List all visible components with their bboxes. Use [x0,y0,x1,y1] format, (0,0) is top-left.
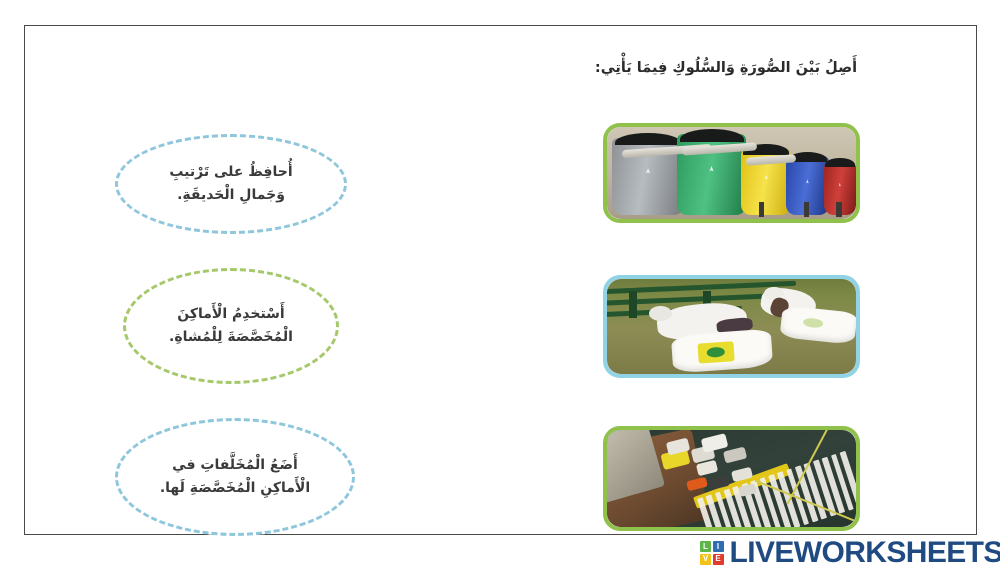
liveworksheets-logo[interactable]: L I V E LIVEWORKSHEETS [700,538,1000,568]
car-white [700,433,727,452]
bin-leg-b [804,202,809,217]
trash-bag-label [803,318,823,330]
statement-bubble-3[interactable]: أَضَعُ الْمُخَلَّفاتِ في الْأَماكِنِ الْ… [115,418,355,536]
car-silver [723,447,748,464]
photo-students-cleaning[interactable] [603,275,860,378]
statement-bubble-2[interactable]: أَسْتخدِمُ الْأَماكِنَ الْمُخَصَّصَةَ لِ… [123,268,339,384]
photo-recycling-bins-image [607,127,856,219]
trash-bag-front [671,329,773,374]
car-white [696,460,718,476]
statement-text-1: أُحافِظُ على تَرْتيبِ وَجَمالِ الْحَديقَ… [151,161,310,206]
park-cleaning-scene [607,279,856,374]
liveworksheets-wordmark: LIVEWORKSHEETS [730,538,1000,568]
trash-bag-label [697,341,734,363]
logo-tile-e: E [713,554,724,565]
statement-bubble-1[interactable]: أُحافِظُ على تَرْتيبِ وَجَمالِ الْحَديقَ… [115,134,347,234]
photo-students-cleaning-image [607,279,856,374]
person-front-head [649,306,671,321]
bench-post [629,291,637,318]
photos-column [603,123,863,538]
statement-text-2: أَسْتخدِمُ الْأَماكِنَ الْمُخَصَّصَةَ لِ… [151,303,311,348]
aerial-road-scene [607,430,856,527]
recycling-bins-scene [607,127,856,219]
statement-text-3: أَضَعُ الْمُخَلَّفاتِ في الْأَماكِنِ الْ… [142,454,328,499]
worksheet-sheet: أَصِلُ بَيْنَ الصُّورَةِ وَالسُّلُوكِ فِ… [24,25,977,535]
liveworksheets-logo-tiles: L I V E [700,541,724,565]
photo-aerial-crosswalk[interactable] [603,426,860,531]
logo-tile-l: L [700,541,711,552]
logo-tile-i: I [713,541,724,552]
photo-aerial-crosswalk-image [607,430,856,527]
logo-tile-v: V [700,554,711,565]
trash-bag-back [780,306,856,346]
bin-leg-a [759,202,764,217]
statements-column: أُحافِظُ على تَرْتيبِ وَجَمالِ الْحَديقَ… [115,86,395,516]
bin-leg-c [836,202,841,217]
page-title: أَصِلُ بَيْنَ الصُّورَةِ وَالسُّلُوكِ فِ… [496,58,956,80]
photo-recycling-bins[interactable] [603,123,860,223]
